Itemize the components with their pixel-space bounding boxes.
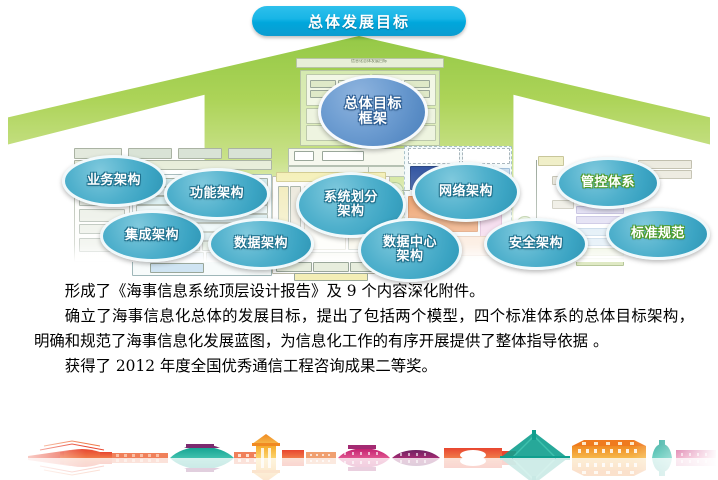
title-banner[interactable]: 总体发展目标	[252, 6, 466, 36]
oval-label-system-partition-architecture: 系统划分架构	[324, 191, 378, 218]
city-skyline-icon	[0, 424, 718, 480]
oval-integration-architecture[interactable]: 集成架构	[100, 210, 204, 262]
oval-governance-system[interactable]: 管控体系	[556, 157, 660, 209]
core-oval-overall-goal-framework[interactable]: 总体目标框架	[318, 75, 428, 149]
diagram-left-chip	[228, 148, 272, 159]
paragraph-1: 形成了《海事信息系统顶层设计报告》及 9 个内容深化附件。	[34, 279, 694, 304]
oval-standards-norms[interactable]: 标准规范	[606, 208, 710, 260]
diagram-network-label-a	[408, 148, 460, 164]
oval-data-architecture[interactable]: 数据架构	[208, 218, 314, 270]
core-oval-label: 总体目标框架	[344, 97, 402, 126]
diagram-connector	[402, 190, 410, 191]
diagram-heading-text: 信息化总体发展目标	[296, 59, 442, 63]
paragraph-3: 获得了 2012 年度全国优秀通信工程咨询成果二等奖。	[34, 354, 694, 379]
diagram-tree-leaf	[576, 258, 624, 266]
slide-canvas: 信息化总体发展目标	[0, 0, 718, 480]
paragraph-2: 确立了海事信息化总体的发展目标，提出了包括两个模型，四个标准体系的总体目标架构，…	[34, 304, 694, 354]
body-text-block: 形成了《海事信息系统顶层设计报告》及 9 个内容深化附件。 确立了海事信息化总体…	[34, 279, 694, 379]
oval-business-architecture[interactable]: 业务架构	[62, 155, 166, 207]
diagram-left-chip	[178, 148, 222, 159]
oval-label-data-center-architecture: 数据中心架构	[383, 236, 437, 263]
oval-function-architecture[interactable]: 功能架构	[164, 168, 270, 220]
title-banner-label: 总体发展目标	[308, 11, 410, 32]
diagram-tree-root	[538, 156, 564, 166]
diagram-chip	[322, 151, 364, 161]
oval-line2-system-partition: 架构	[337, 204, 364, 219]
oval-label-data-architecture: 数据架构	[234, 237, 288, 251]
oval-label-network-architecture: 网络架构	[439, 185, 493, 199]
city-skyline-decoration	[0, 424, 718, 480]
oval-data-center-architecture[interactable]: 数据中心架构	[358, 218, 462, 282]
oval-line2-data-center: 架构	[396, 249, 423, 264]
oval-label-business-architecture: 业务架构	[87, 174, 141, 188]
oval-label-governance-system: 管控体系	[581, 176, 635, 190]
oval-label-security-architecture: 安全架构	[509, 237, 563, 251]
diagram-cell	[150, 263, 204, 273]
oval-label-function-architecture: 功能架构	[190, 187, 244, 201]
oval-label-integration-architecture: 集成架构	[125, 229, 179, 243]
diagram-cell	[313, 262, 349, 272]
oval-label-standards-norms: 标准规范	[631, 227, 685, 241]
oval-security-architecture[interactable]: 安全架构	[484, 218, 588, 270]
oval-network-architecture[interactable]: 网络架构	[412, 162, 520, 222]
core-oval-line2: 框架	[359, 111, 388, 127]
diagram-chip	[294, 151, 314, 161]
